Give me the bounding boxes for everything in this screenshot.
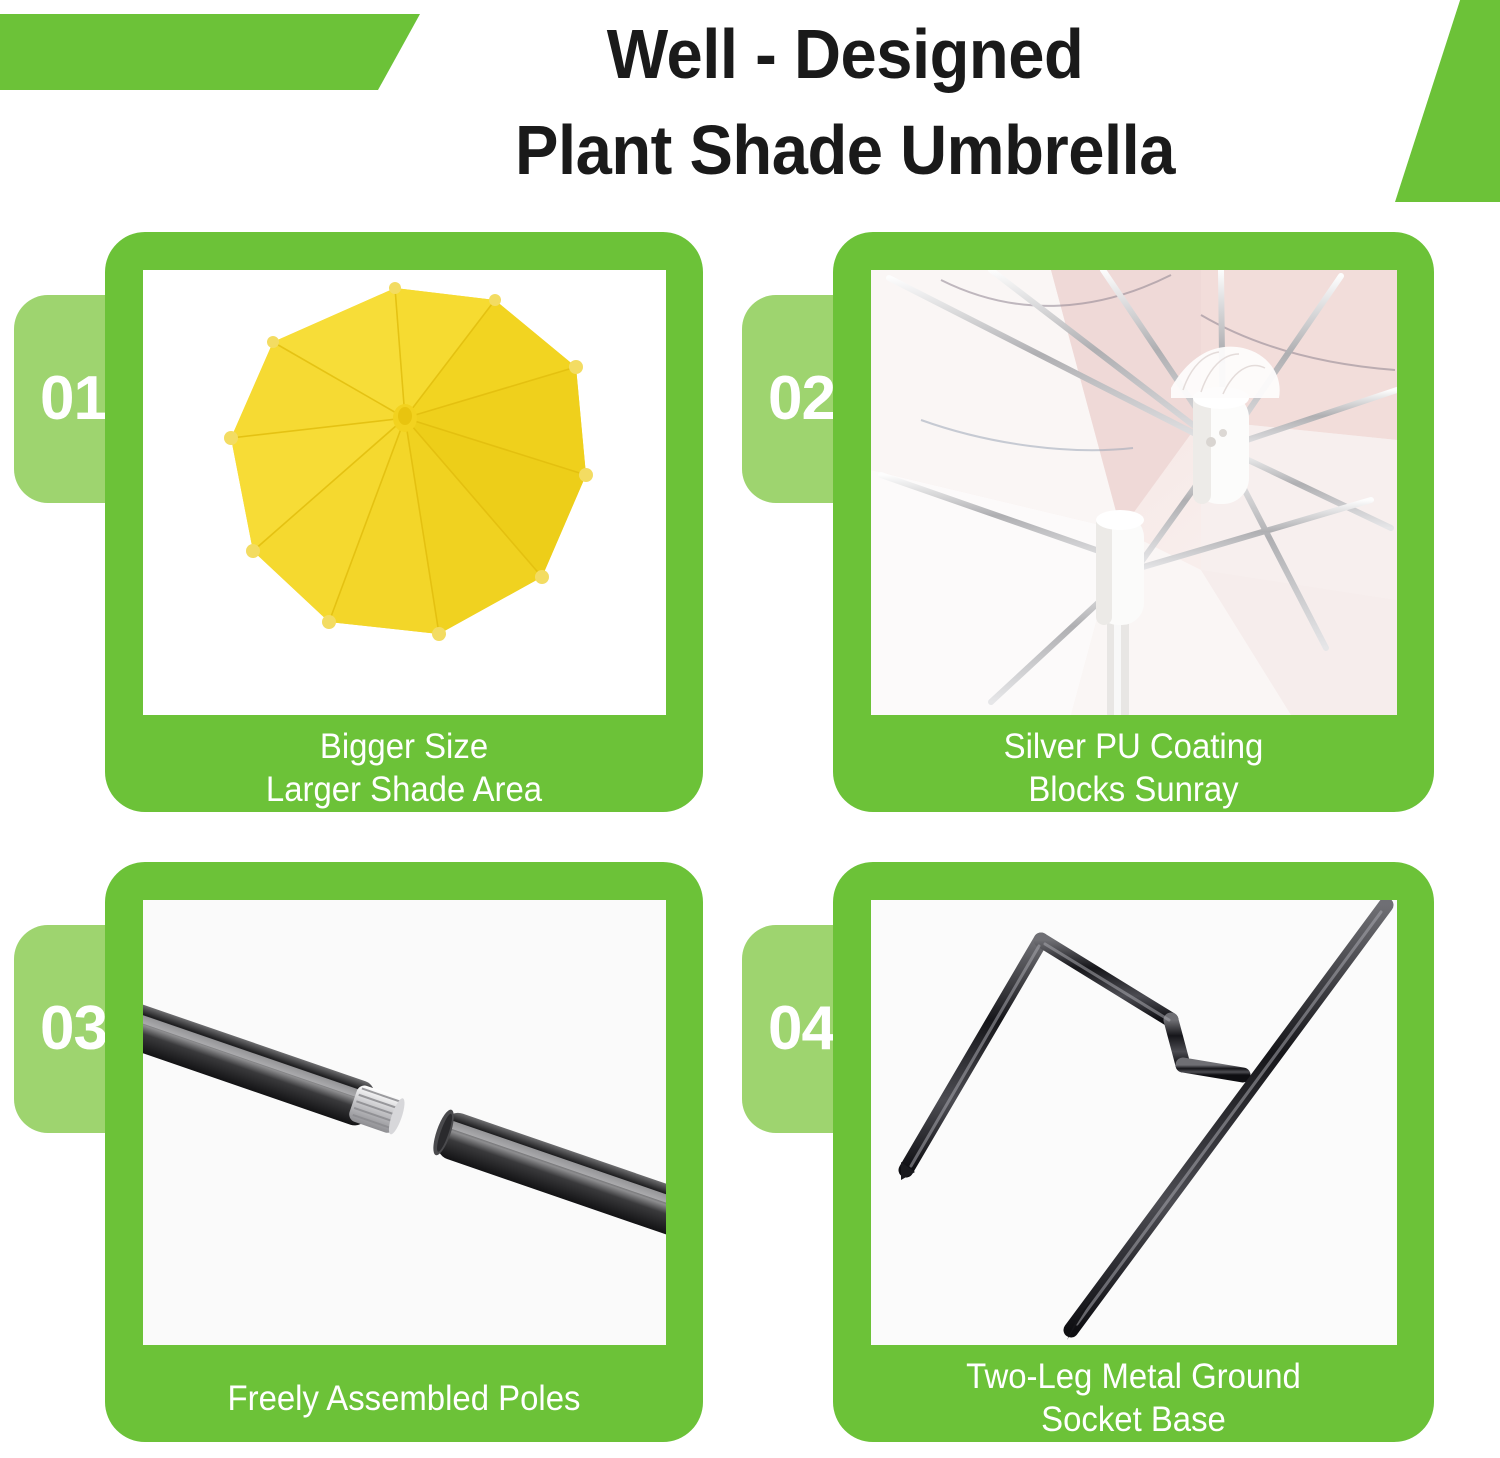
feature-card-01: Bigger Size Larger Shade Area (105, 232, 703, 812)
feature-card-03: Freely Assembled Poles (105, 862, 703, 1442)
feature-caption-04: Two-Leg Metal Ground Socket Base (851, 1355, 1416, 1441)
feature-photo-umbrella-top (143, 270, 666, 715)
feature-photo-poles (143, 900, 666, 1345)
yellow-umbrella-icon (143, 270, 666, 715)
feature-card-04: Two-Leg Metal Ground Socket Base (833, 862, 1434, 1442)
assembled-poles-icon (143, 900, 666, 1345)
ground-socket-base-icon (871, 900, 1397, 1345)
feature-card-02: Silver PU Coating Blocks Sunray (833, 232, 1434, 812)
feature-caption-03: Freely Assembled Poles (123, 1377, 685, 1420)
umbrella-interior-icon (871, 270, 1397, 715)
feature-caption-01: Bigger Size Larger Shade Area (123, 725, 685, 811)
feature-photo-ground-stake (871, 900, 1397, 1345)
page-header: Well - Designed Plant Shade Umbrella (0, 0, 1500, 215)
header-banner-right (1395, 0, 1500, 202)
feature-photo-umbrella-interior (871, 270, 1397, 715)
page-title: Well - Designed Plant Shade Umbrella (290, 6, 1400, 198)
page-title-line-2: Plant Shade Umbrella (329, 102, 1361, 198)
page-title-line-1: Well - Designed (329, 6, 1361, 102)
feature-caption-02: Silver PU Coating Blocks Sunray (851, 725, 1416, 811)
